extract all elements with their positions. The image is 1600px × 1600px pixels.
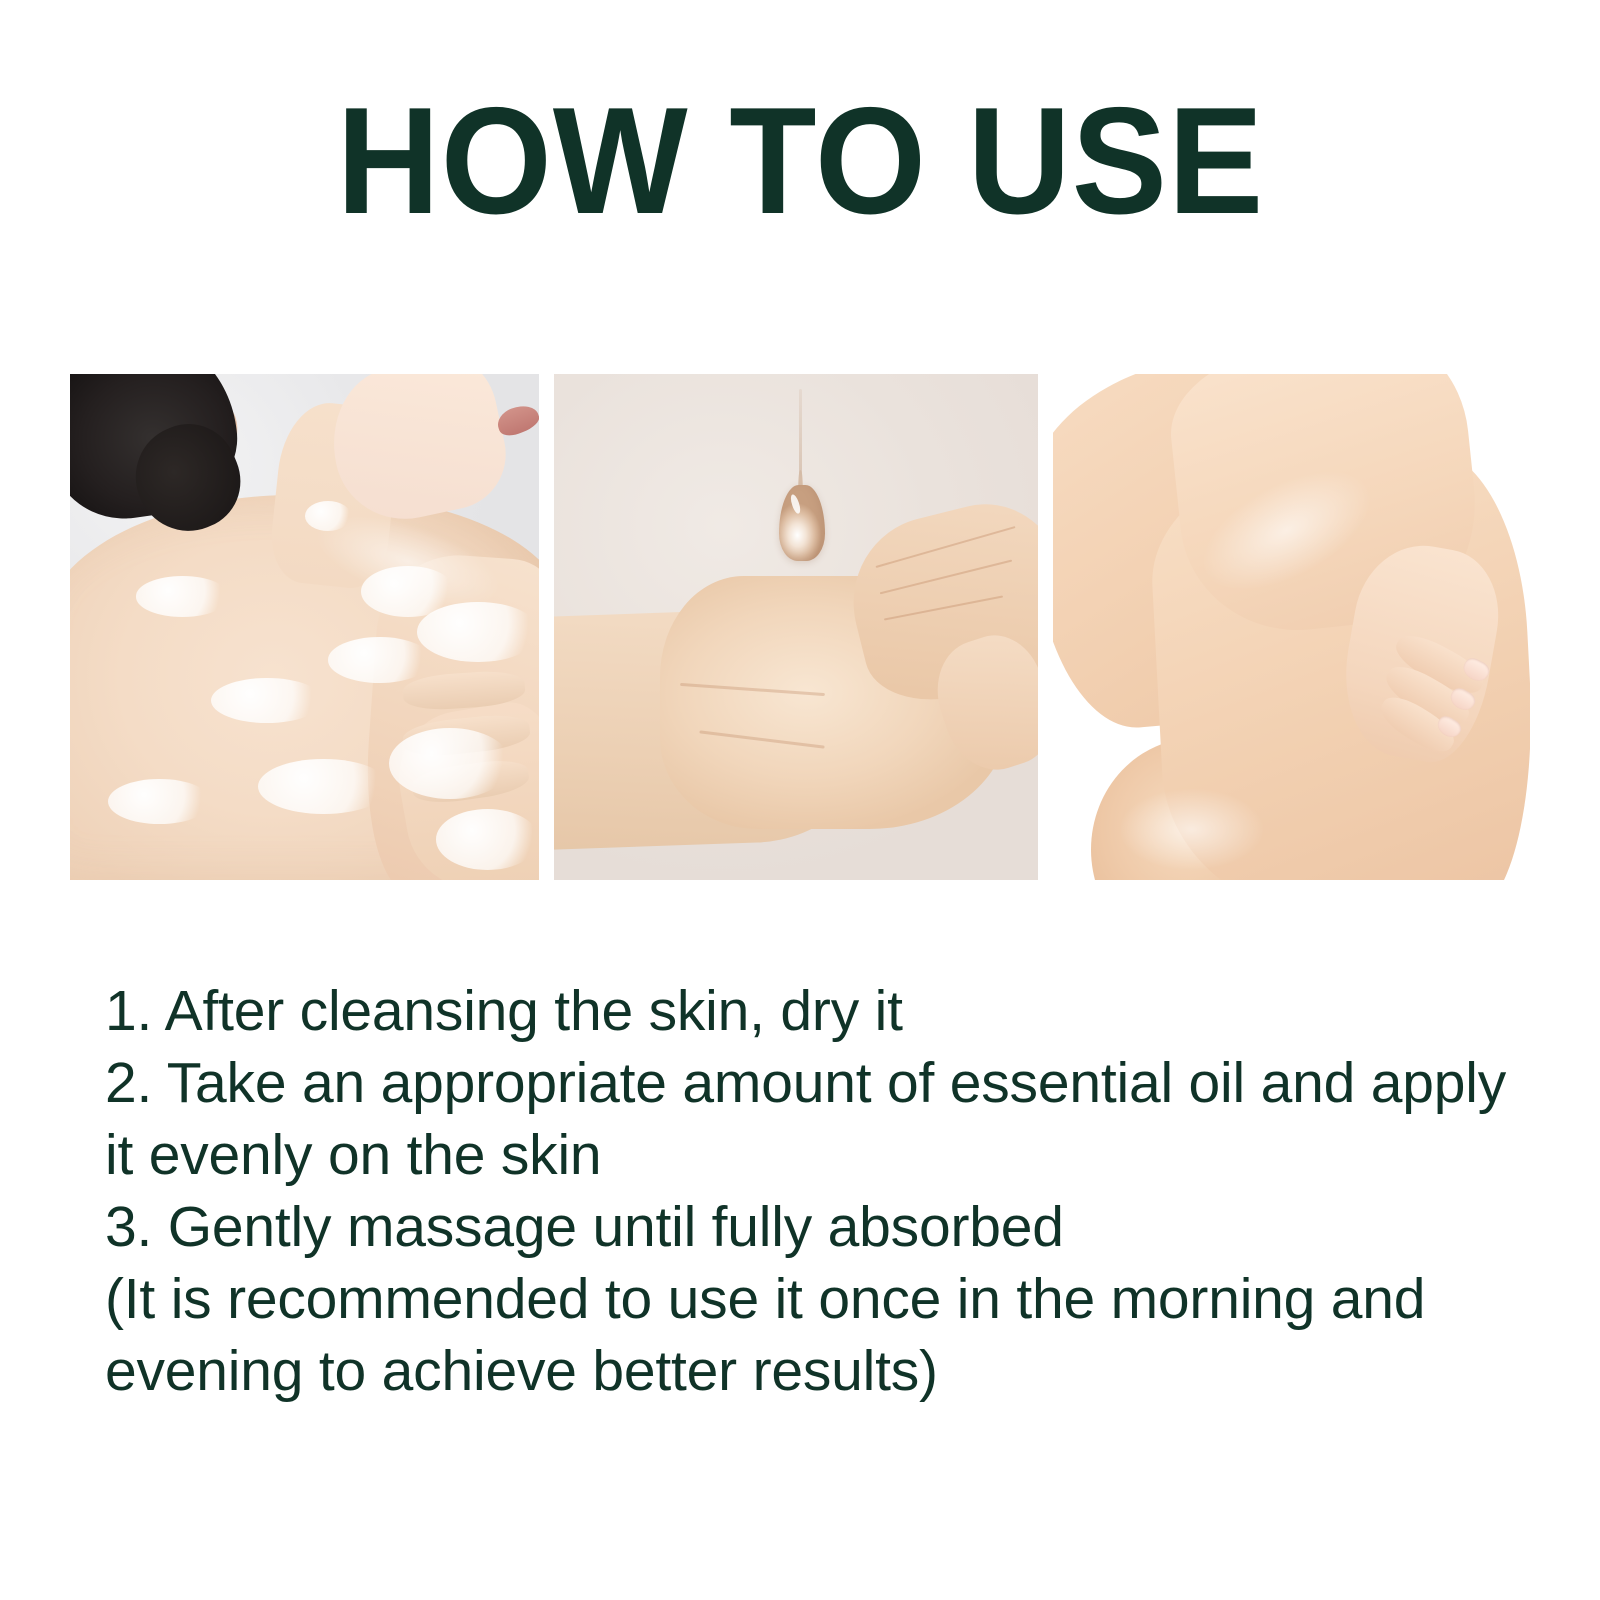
page-title-container: HOW TO USE [0, 0, 1600, 300]
instruction-list: 1. After cleansing the skin, dry it 2. T… [105, 975, 1525, 1407]
page-title: HOW TO USE [336, 85, 1264, 237]
instruction-step-2: 2. Take an appropriate amount of essenti… [105, 1047, 1525, 1191]
skin-highlight [1120, 789, 1263, 870]
how-to-use-image-gallery [70, 374, 1530, 880]
oil-droplet [779, 485, 825, 561]
gallery-panel-oil-drop-palm [554, 374, 1038, 880]
gallery-panel-massage-leg [1053, 374, 1530, 880]
instruction-note: (It is recommended to use it once in the… [105, 1263, 1525, 1407]
gallery-panel-cleansing-foam-back [70, 374, 539, 880]
instruction-step-1: 1. After cleansing the skin, dry it [105, 975, 1525, 1047]
instruction-step-3: 3. Gently massage until fully absorbed [105, 1191, 1525, 1263]
